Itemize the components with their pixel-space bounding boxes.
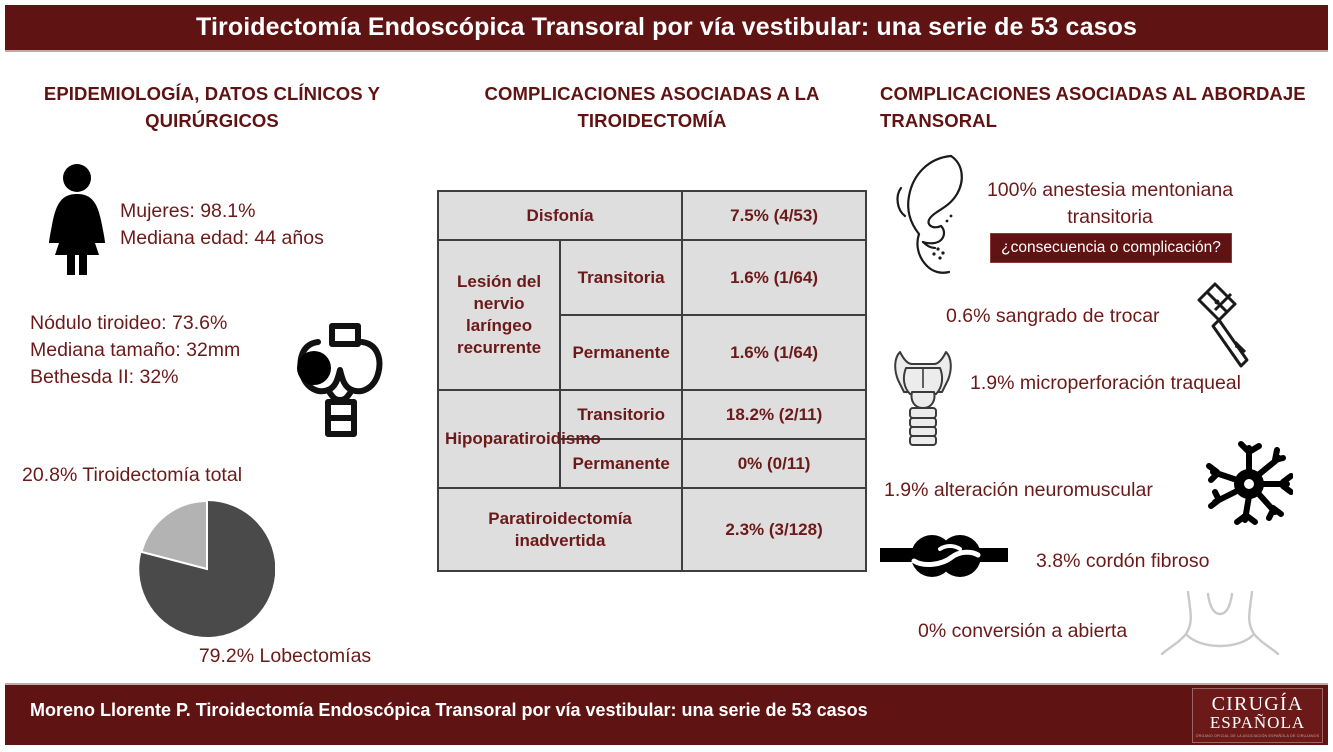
logo-line-2: ESPAÑOLA	[1210, 714, 1305, 732]
footer-citation: Moreno Llorente P. Tiroidectomía Endoscó…	[30, 700, 868, 721]
cell-label: Disfonía	[438, 191, 682, 240]
female-figure-icon	[40, 163, 114, 275]
page-title: Tiroidectomía Endoscópica Transoral por …	[196, 13, 1137, 42]
knot-icon	[880, 531, 1008, 581]
cell-value: 0% (0/11)	[682, 439, 866, 488]
consequence-question-badge[interactable]: ¿consecuencia o complicación?	[990, 233, 1232, 263]
larynx-trachea-icon	[884, 342, 962, 450]
pie-label-lobectomy: 79.2% Lobectomías	[120, 643, 450, 670]
logo-subtitle: ÓRGANO OFICIAL DE LA ASOCIACIÓN ESPAÑOLA…	[1196, 734, 1320, 738]
middle-column-heading: COMPLICACIONES ASOCIADAS A LA TIROIDECTO…	[437, 80, 867, 134]
right-item-2-text: 0.6% sangrado de trocar	[946, 303, 1226, 330]
face-profile-icon	[893, 150, 985, 275]
right-item-1-text: 100% anestesia mentoniana transitoria	[975, 177, 1245, 231]
right-item-6-text: 0% conversión a abierta	[918, 618, 1198, 645]
left-column-heading: EPIDEMIOLOGÍA, DATOS CLÍNICOS Y QUIRÚRGI…	[8, 80, 416, 134]
right-item-5-text: 3.8% cordón fibroso	[1036, 548, 1316, 575]
title-bar: Tiroidectomía Endoscópica Transoral por …	[5, 5, 1328, 52]
cell-value: 1.6% (1/64)	[682, 315, 866, 390]
logo-line-1: CIRUGÍA	[1212, 694, 1304, 714]
cell-value: 7.5% (4/53)	[682, 191, 866, 240]
cell-value: 2.3% (3/128)	[682, 488, 866, 571]
neuron-icon	[1205, 438, 1293, 526]
complications-table-wrapper: Disfonía 7.5% (4/53) Lesión del nervio l…	[437, 190, 867, 572]
thyroid-gland-icon	[288, 320, 396, 440]
cell-value: 18.2% (2/11)	[682, 390, 866, 439]
trocar-icon	[1185, 280, 1265, 380]
complications-table: Disfonía 7.5% (4/53) Lesión del nervio l…	[437, 190, 867, 572]
right-column-heading: COMPLICACIONES ASOCIADAS AL ABORDAJE TRA…	[880, 80, 1328, 134]
nodule-stats: Nódulo tiroideo: 73.6% Mediana tamaño: 3…	[30, 310, 300, 391]
cirugia-espanola-logo: CIRUGÍA ESPAÑOLA ÓRGANO OFICIAL DE LA AS…	[1192, 688, 1323, 743]
cell-subtype: Permanente	[560, 315, 682, 390]
surgery-type-pie-chart	[139, 501, 275, 637]
table-row: Hipoparatiroidismo Transitorio 18.2% (2/…	[438, 390, 866, 439]
table-row: Lesión del nervio laríngeo recurrente Tr…	[438, 240, 866, 315]
cell-value: 1.6% (1/64)	[682, 240, 866, 315]
right-item-4-text: 1.9% alteración neuromuscular	[884, 477, 1204, 504]
cell-label: Hipoparatiroidismo	[438, 390, 560, 488]
cell-label: Paratiroidectomía inadvertida	[438, 488, 682, 571]
table-row: Disfonía 7.5% (4/53)	[438, 191, 866, 240]
infographic-slide: Tiroidectomía Endoscópica Transoral por …	[0, 0, 1333, 752]
table-row: Paratiroidectomía inadvertida 2.3% (3/12…	[438, 488, 866, 571]
demographics-stats: Mujeres: 98.1% Mediana edad: 44 años	[120, 198, 390, 252]
cell-label: Lesión del nervio laríngeo recurrente	[438, 240, 560, 390]
right-item-3-text: 1.9% microperforación traqueal	[970, 370, 1270, 397]
cell-subtype: Transitoria	[560, 240, 682, 315]
pie-label-total: 20.8% Tiroidectomía total	[22, 462, 322, 489]
